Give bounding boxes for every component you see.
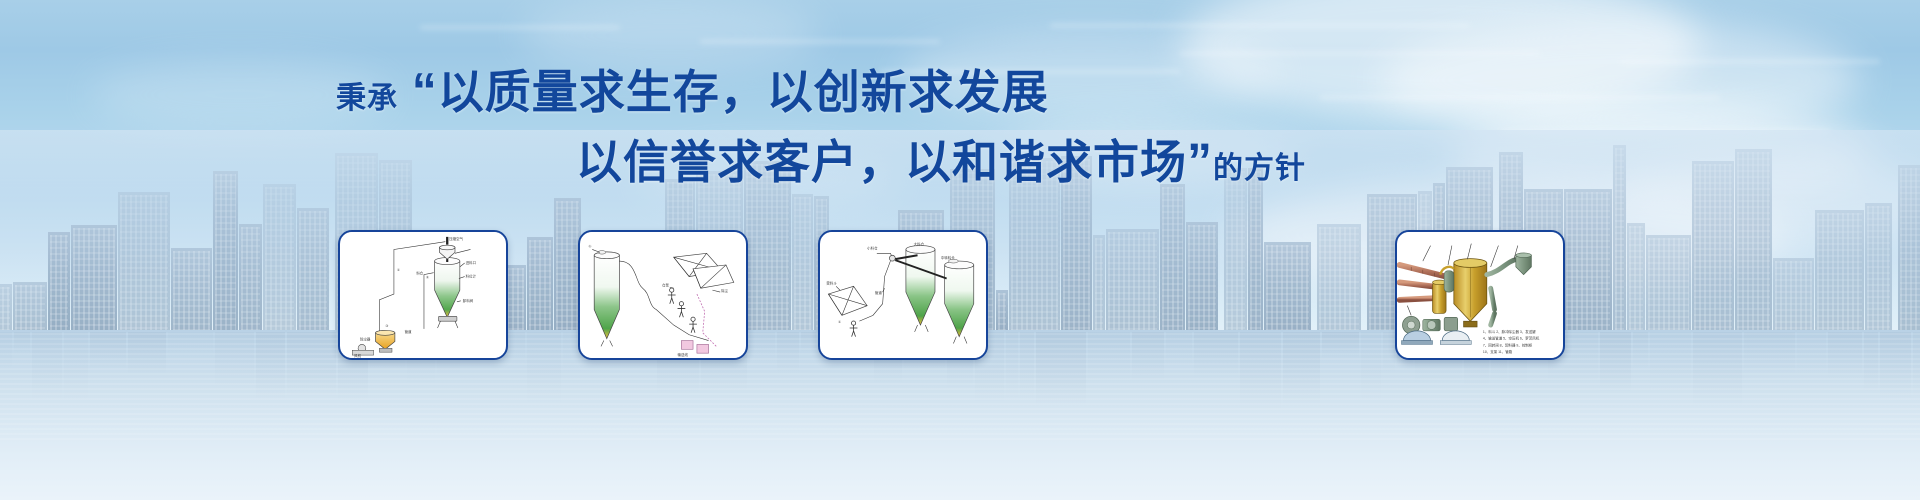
svg-text:③: ③ xyxy=(385,324,388,328)
svg-text:风机: 风机 xyxy=(354,353,361,358)
svg-text:输送线: 输送线 xyxy=(678,352,689,357)
svg-text:小料仓: 小料仓 xyxy=(867,245,878,250)
svg-text:①: ① xyxy=(838,320,841,324)
svg-text:中转料仓: 中转料仓 xyxy=(941,255,955,260)
svg-text:料仓: 料仓 xyxy=(416,271,423,276)
diagram-card-1[interactable]: 压缩空气 进料口 料位计 卸料阀 料仓 ① ② ③ 管道 除尘器 风机 xyxy=(338,230,508,360)
svg-text:管道: 管道 xyxy=(405,329,412,334)
svg-text:7、回转阀 8、卸料器 9、控制柜: 7、回转阀 8、卸料器 9、控制柜 xyxy=(1483,342,1533,347)
svg-text:10、支架 11、管路: 10、支架 11、管路 xyxy=(1483,349,1513,354)
svg-text:仓泵: 仓泵 xyxy=(662,282,669,287)
svg-text:压缩空气: 压缩空气 xyxy=(449,236,463,241)
hero-banner: 秉承 “以质量求生存，以创新求发展 以信誉求客户，以和谐求市场”的方针 xyxy=(0,0,1920,500)
diagram-card-3-image: 受料斗 ① xyxy=(820,232,986,358)
diagram-card-4[interactable]: 1、料斗 2、脉冲除尘器 3、发送罐 4、输送管道 5、空压机 6、罗茨风机 7… xyxy=(1395,230,1565,360)
diagram-card-row: 压缩空气 进料口 料位计 卸料阀 料仓 ① ② ③ 管道 除尘器 风机 xyxy=(0,0,1920,500)
svg-text:1、料斗 2、脉冲除尘器 3、发送罐: 1、料斗 2、脉冲除尘器 3、发送罐 xyxy=(1483,329,1536,334)
svg-text:料位计: 料位计 xyxy=(466,274,477,279)
svg-text:①: ① xyxy=(588,245,591,249)
svg-text:4、输送管道 5、空压机 6、罗茨风机: 4、输送管道 5、空压机 6、罗茨风机 xyxy=(1483,336,1540,341)
diagram-card-3[interactable]: 受料斗 ① xyxy=(818,230,988,360)
svg-text:除尘: 除尘 xyxy=(721,288,728,293)
diagram-card-2[interactable]: ① 仓泵 除尘 xyxy=(578,230,748,360)
svg-text:进料口: 进料口 xyxy=(466,260,477,265)
svg-text:除尘器: 除尘器 xyxy=(360,337,371,342)
diagram-card-4-image: 1、料斗 2、脉冲除尘器 3、发送罐 4、输送管道 5、空压机 6、罗茨风机 7… xyxy=(1397,232,1563,358)
diagram-card-2-image: ① 仓泵 除尘 xyxy=(580,232,746,358)
svg-text:①: ① xyxy=(397,268,400,272)
svg-text:受料斗: 受料斗 xyxy=(826,280,837,285)
svg-text:卸料阀: 卸料阀 xyxy=(463,298,474,303)
diagram-card-1-image: 压缩空气 进料口 料位计 卸料阀 料仓 ① ② ③ 管道 除尘器 风机 xyxy=(340,232,506,358)
svg-text:②: ② xyxy=(426,276,429,280)
svg-text:大料仓: 大料仓 xyxy=(914,242,925,247)
svg-text:管道: 管道 xyxy=(875,290,882,295)
